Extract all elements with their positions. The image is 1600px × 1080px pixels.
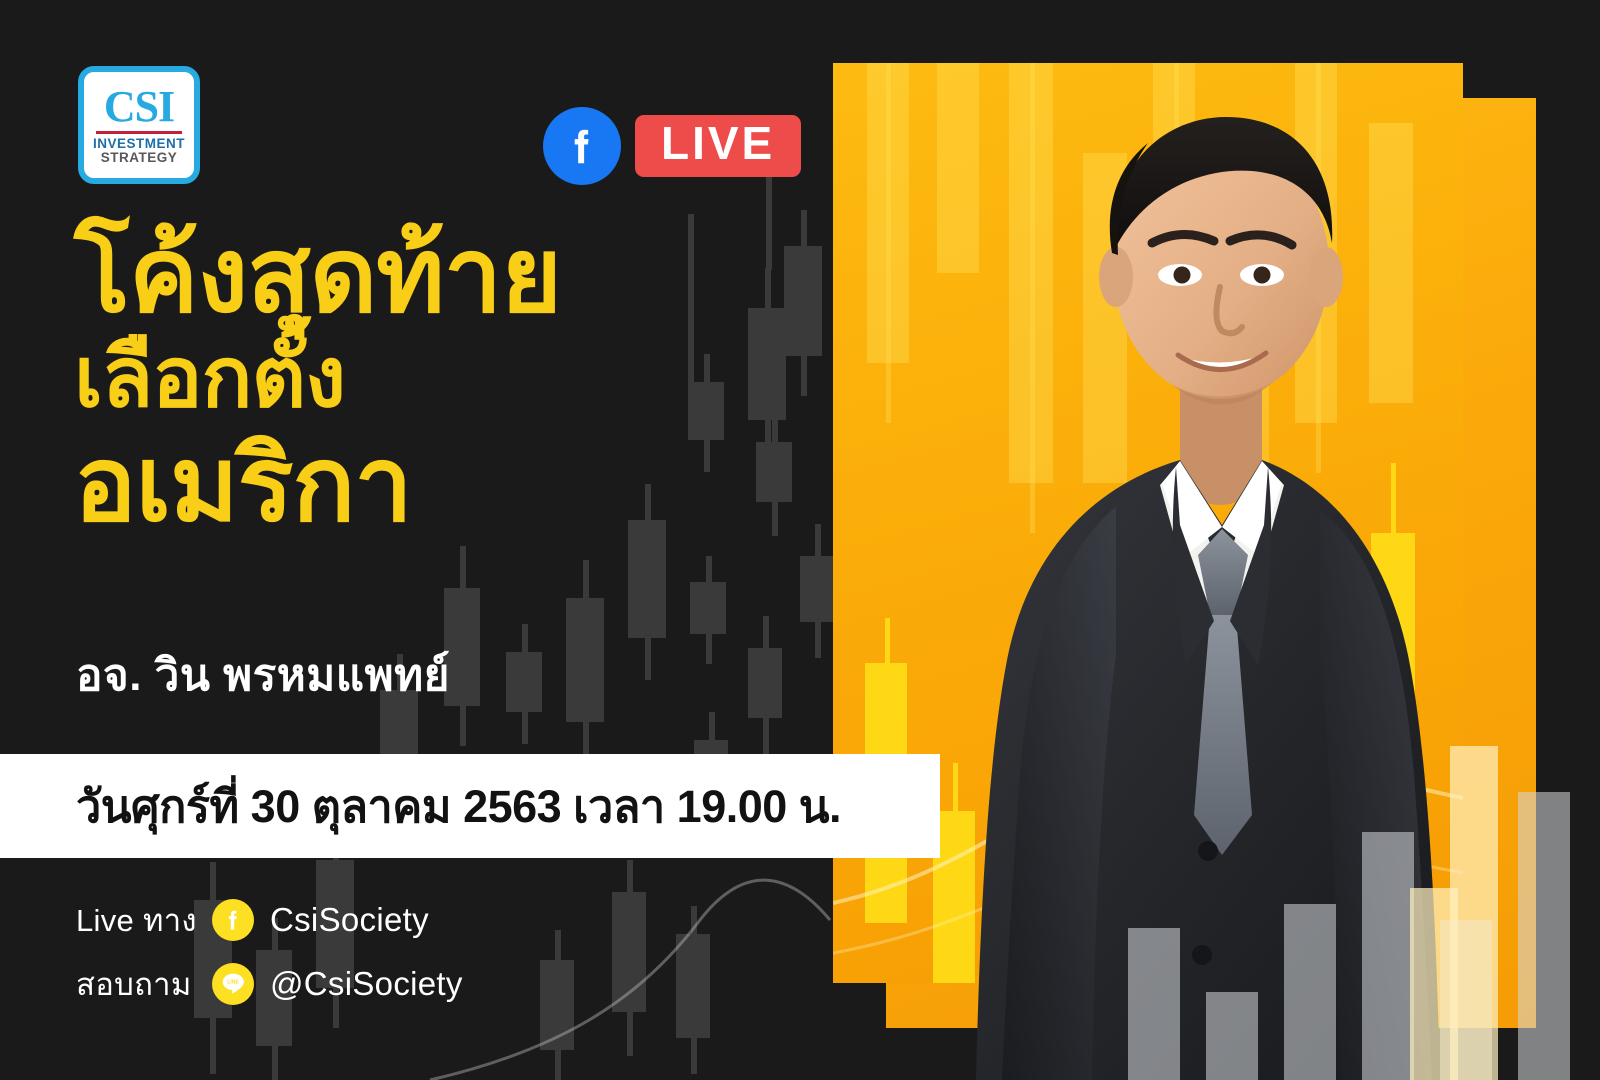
logo-divider bbox=[96, 131, 182, 134]
speaker-name: อจ. วิน พรหมแพทย์ bbox=[76, 640, 450, 710]
headline-line-3: อเมริกา bbox=[74, 427, 561, 543]
line-icon[interactable]: LINE bbox=[212, 963, 254, 1005]
contact-row-facebook[interactable]: Live ทาง CsiSociety bbox=[76, 893, 463, 947]
facebook-icon[interactable] bbox=[543, 107, 621, 185]
contact-handle-line[interactable]: @CsiSociety bbox=[270, 965, 463, 1003]
logo-mark-text: CSI bbox=[104, 86, 174, 128]
contact-block: Live ทาง CsiSociety สอบถาม LINE @CsiSoci… bbox=[76, 893, 463, 1021]
contact-label-live: Live ทาง bbox=[76, 895, 212, 945]
date-bar: วันศุกร์ที่ 30 ตุลาคม 2563 เวลา 19.00 น. bbox=[0, 754, 940, 858]
live-label: LIVE bbox=[635, 115, 801, 177]
logo-tagline-line1: INVESTMENT bbox=[93, 137, 185, 151]
headline: โค้งสุดท้าย เลือกตั้ง อเมริกา bbox=[74, 224, 561, 544]
facebook-icon[interactable] bbox=[212, 899, 254, 941]
headline-line-1: โค้งสุดท้าย bbox=[74, 224, 561, 328]
speaker-portrait bbox=[880, 55, 1580, 1080]
date-text: วันศุกร์ที่ 30 ตุลาคม 2563 เวลา 19.00 น. bbox=[76, 770, 841, 842]
logo-tagline-line2: STRATEGY bbox=[101, 151, 178, 165]
csi-logo[interactable]: CSI INVESTMENT STRATEGY bbox=[78, 66, 200, 184]
svg-text:LINE: LINE bbox=[227, 979, 239, 985]
headline-line-2: เลือกตั้ง bbox=[74, 328, 561, 427]
facebook-live-badge[interactable]: LIVE bbox=[543, 107, 801, 185]
contact-label-inquiry: สอบถาม bbox=[76, 959, 212, 1009]
contact-row-line[interactable]: สอบถาม LINE @CsiSociety bbox=[76, 957, 463, 1011]
poster-canvas: CSI INVESTMENT STRATEGY LIVE โค้งสุดท้าย… bbox=[0, 0, 1600, 1080]
contact-handle-facebook[interactable]: CsiSociety bbox=[270, 901, 429, 939]
